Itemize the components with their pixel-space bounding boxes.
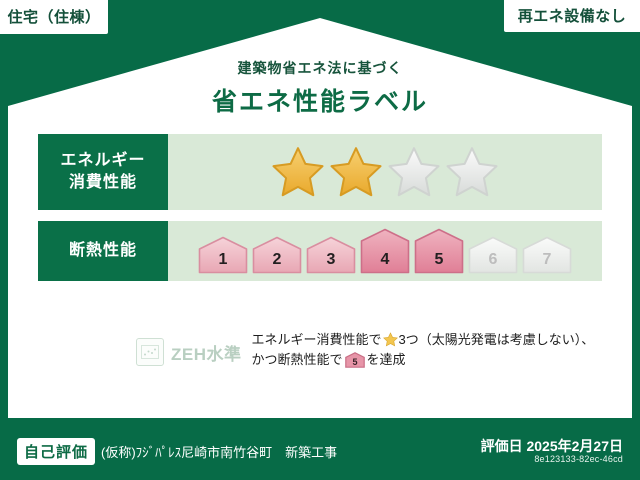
insulation-level-3: 3 [306,236,356,274]
evaluation-date-value: 2025年2月27日 [526,438,623,454]
badge-building-type: 住宅（住棟） [0,0,108,34]
insulation-level-5: 5 [414,228,464,274]
zeh-label: ZEH水準 [171,340,242,365]
insulation-level-4: 4 [360,228,410,274]
zeh-desc-star-count: 3つ [399,332,419,347]
insulation-level-2: 2 [252,236,302,274]
star-empty-icon [386,145,442,199]
zeh-desc-part1: エネルギー消費性能で [252,332,382,347]
zeh-standard-note: ZEH水準 エネルギー消費性能で3つ（太陽光発電は考慮しない）、かつ断熱性能で5… [38,330,602,374]
title-subtitle: 建築物省エネ法に基づく [0,58,640,78]
evaluation-date-label: 評価日 [481,438,523,454]
row-label-energy-line1: エネルギー [60,150,145,172]
star-filled-icon [270,145,326,199]
star-rating [270,145,500,199]
energy-stars-value [168,134,602,210]
row-energy-consumption: エネルギー 消費性能 [38,134,602,210]
row-label-insulation-line1: 断熱性能 [69,240,137,262]
self-evaluation-badge: 自己評価 [17,438,95,465]
insulation-level-7: 7 [522,236,572,274]
row-label-energy-line2: 消費性能 [69,172,137,194]
insulation-level-6: 6 [468,236,518,274]
page-title-block: 建築物省エネ法に基づく 省エネ性能ラベル [0,58,640,118]
footer-bar: 自己評価 (仮称)ﾌｼﾞﾊﾟﾚｽ尼崎市南竹谷町 新築工事 評価日 2025年2月… [0,422,640,480]
zeh-badge: ZEH水準 [38,338,242,366]
insulation-levels-value: 1234567 [168,221,602,281]
row-insulation-performance: 断熱性能 1234567 [38,221,602,281]
page-title: 省エネ性能ラベル [0,82,640,118]
star-filled-icon [328,145,384,199]
evaluation-meta: 評価日 2025年2月27日 8e123133-82ec-46cd [481,438,623,464]
badge-renewable-energy: 再エネ設備なし [504,0,640,32]
insulation-level-1: 1 [198,236,248,274]
insulation-level-scale: 1234567 [198,228,572,274]
inline-star-icon [383,332,398,347]
zeh-desc-part3: を達成 [367,352,406,367]
evaluation-date: 評価日 2025年2月27日 [481,438,623,454]
star-empty-icon [444,145,500,199]
evaluation-id: 8e123133-82ec-46cd [481,454,623,464]
energy-performance-label: 住宅（住棟） 再エネ設備なし 建築物省エネ法に基づく 省エネ性能ラベル エネルギ… [0,0,640,480]
zeh-description: エネルギー消費性能で3つ（太陽光発電は考慮しない）、かつ断熱性能で5を達成 [252,330,603,374]
row-label-insulation: 断熱性能 [38,221,168,281]
building-name: (仮称)ﾌｼﾞﾊﾟﾚｽ尼崎市南竹谷町 新築工事 [101,442,481,461]
row-label-energy: エネルギー 消費性能 [38,134,168,210]
solar-panel-icon [136,338,164,366]
inline-house-level: 5 [352,357,357,367]
rating-rows: エネルギー 消費性能 断熱性能 1234567 [38,134,602,292]
inline-house-badge: 5 [345,352,365,374]
